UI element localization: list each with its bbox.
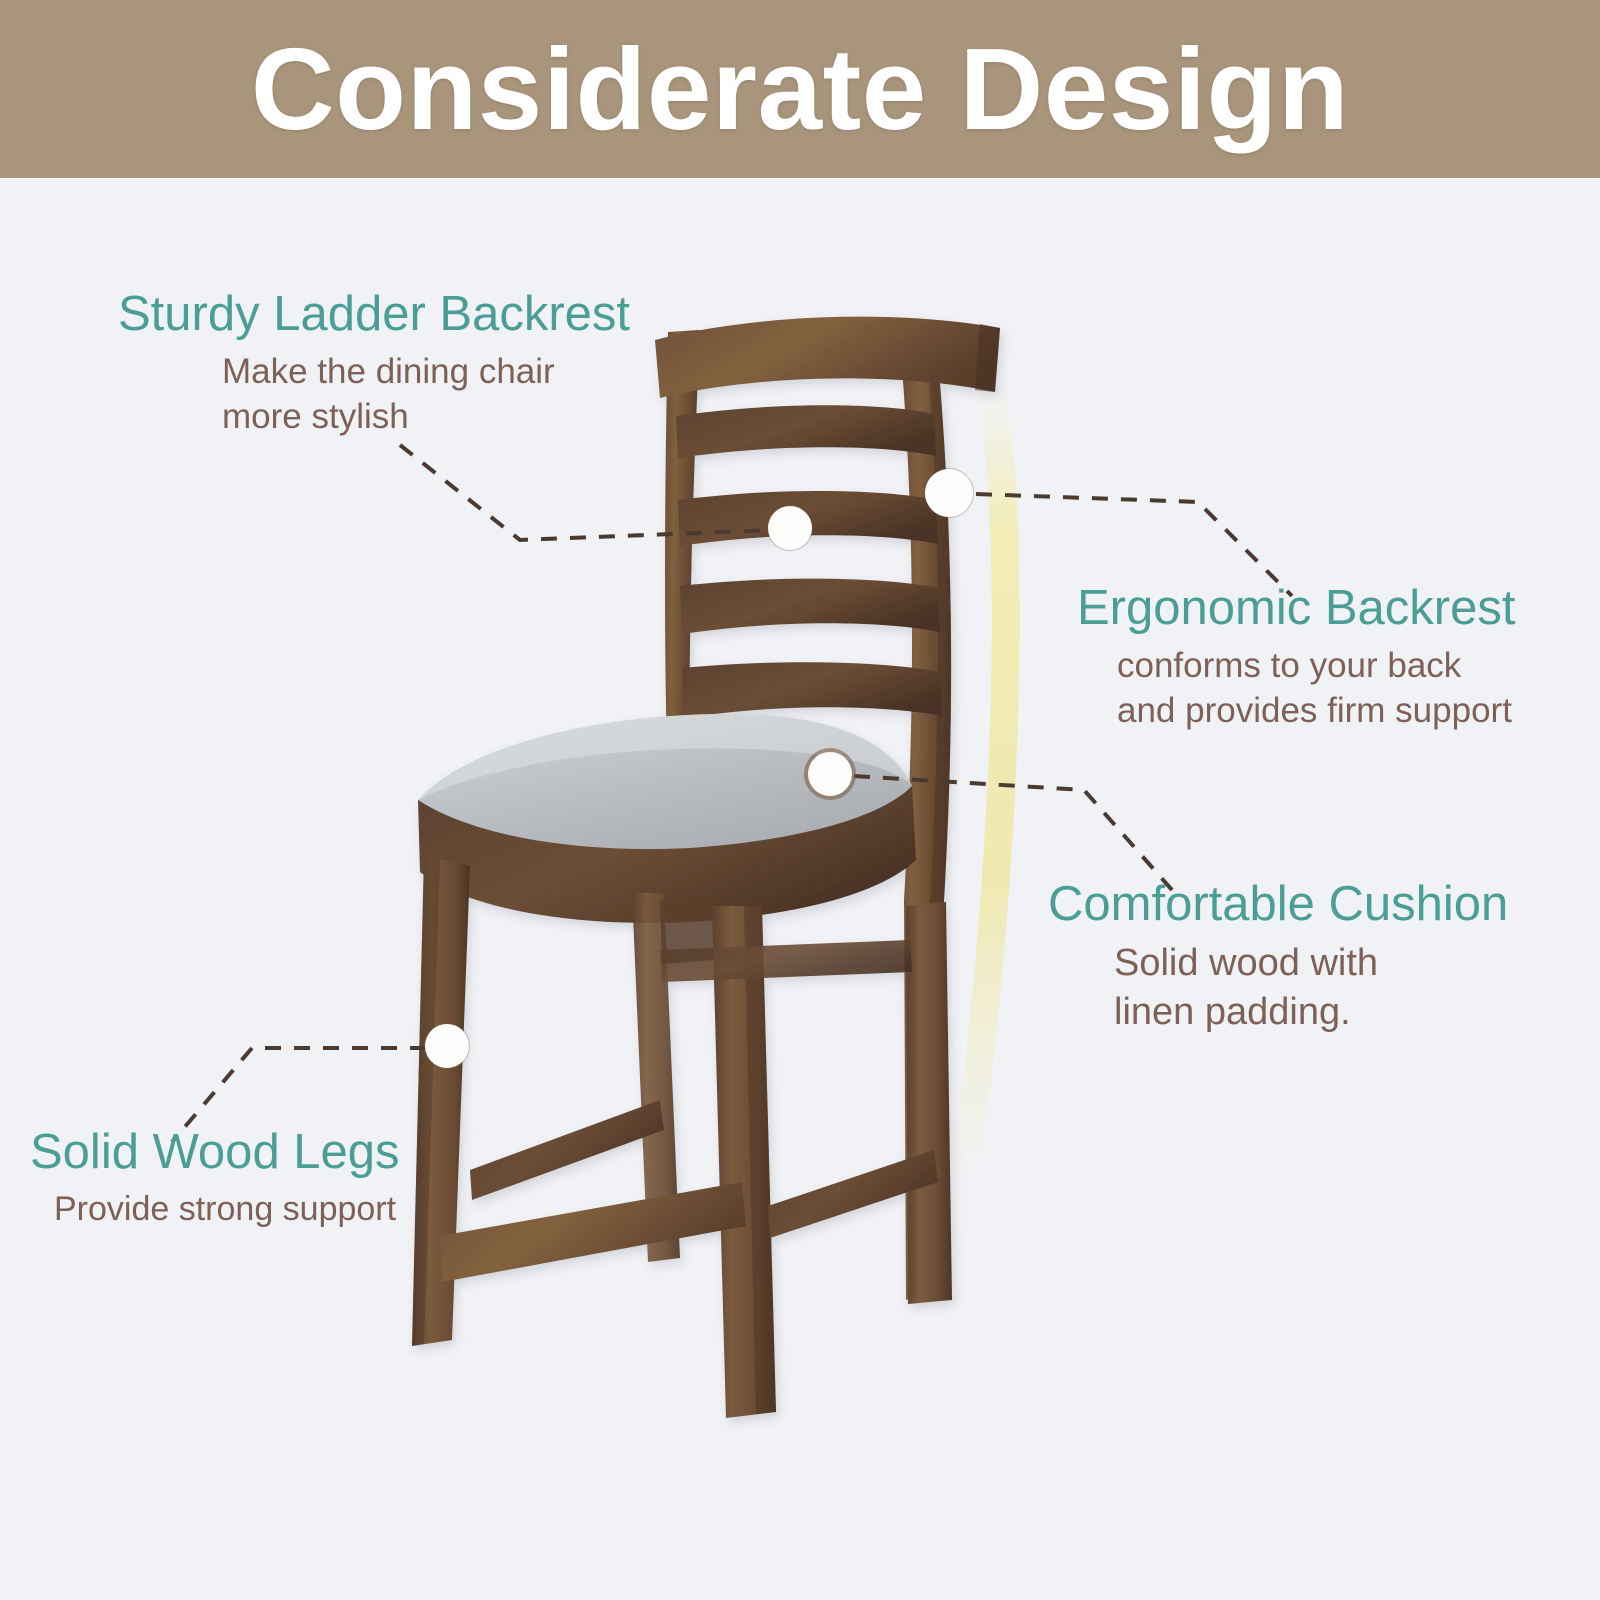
callout-comfortable-cushion: Comfortable Cushion Solid wood with line… [1048, 878, 1508, 1038]
infographic-page: Considerate Design [0, 0, 1600, 1600]
callout-body-ergonomic-backrest: conforms to your back and provides firm … [1117, 643, 1515, 734]
callout-title-comfortable-cushion: Comfortable Cushion [1048, 878, 1508, 931]
chair-leg-rear-right [906, 902, 952, 1304]
callout-body-line: linen padding. [1114, 988, 1508, 1037]
callout-title-solid-wood-legs: Solid Wood Legs [30, 1126, 400, 1179]
callout-dot-ladder-backrest[interactable] [768, 506, 812, 550]
callout-body-line: Provide strong support [54, 1187, 400, 1231]
chair-stretcher-front-lower [440, 1182, 746, 1282]
callout-body-ladder-backrest: Make the dining chair more stylish [222, 349, 630, 440]
chair-top-rail [655, 317, 1000, 398]
callout-body-line: Solid wood with [1114, 939, 1508, 988]
callout-ladder-backrest: Sturdy Ladder Backrest Make the dining c… [118, 288, 630, 440]
chair-backrest-slat-4 [682, 662, 942, 718]
callout-body-solid-wood-legs: Provide strong support [54, 1187, 400, 1231]
callout-title-ladder-backrest: Sturdy Ladder Backrest [118, 288, 630, 341]
callout-body-line: conforms to your back [1117, 643, 1515, 689]
callout-body-line: Make the dining chair [222, 349, 630, 395]
chair-backrest-slat-3 [680, 579, 940, 634]
chair-seat-rear-brace [660, 896, 714, 964]
callout-body-line: and provides firm support [1117, 688, 1515, 734]
product-photo-chair [0, 0, 1600, 1600]
chair-backrest-slat-1 [676, 405, 936, 458]
callout-dot-solid-wood-legs[interactable] [425, 1024, 469, 1068]
callout-body-line: more stylish [222, 394, 630, 440]
callout-ergonomic-backrest: Ergonomic Backrest conforms to your back… [1077, 582, 1515, 734]
callout-dot-ergonomic-backrest[interactable] [925, 469, 973, 517]
callout-title-ergonomic-backrest: Ergonomic Backrest [1077, 582, 1515, 635]
callout-body-comfortable-cushion: Solid wood with linen padding. [1114, 939, 1508, 1038]
callout-dot-comfortable-cushion[interactable] [808, 752, 852, 796]
callout-solid-wood-legs: Solid Wood Legs Provide strong support [30, 1126, 400, 1231]
chair-stretcher-left-upper [470, 1100, 664, 1200]
